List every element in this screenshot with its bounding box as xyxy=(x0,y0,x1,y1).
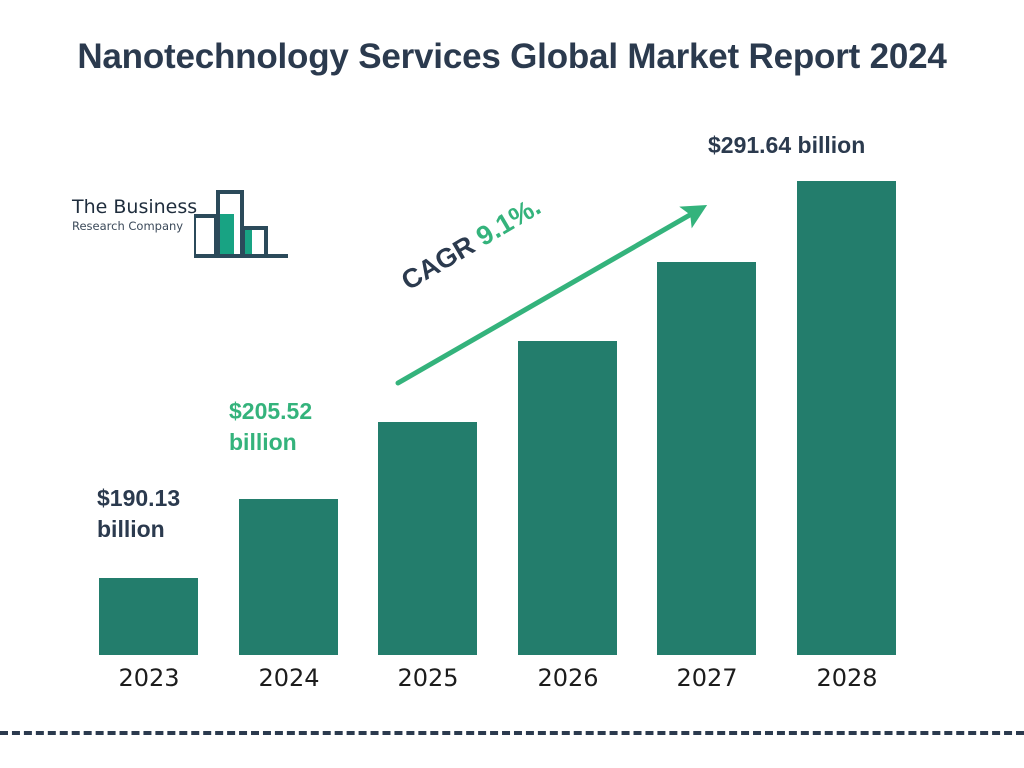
footer-divider xyxy=(0,731,1024,735)
chart-infographic: Nanotechnology Services Global Market Re… xyxy=(0,0,1024,768)
x-tick-2025: 2025 xyxy=(358,664,498,692)
x-tick-2028: 2028 xyxy=(777,664,917,692)
x-tick-2027: 2027 xyxy=(637,664,777,692)
growth-arrow xyxy=(0,0,1024,768)
x-tick-2024: 2024 xyxy=(219,664,359,692)
x-tick-2023: 2023 xyxy=(79,664,219,692)
x-tick-2026: 2026 xyxy=(498,664,638,692)
